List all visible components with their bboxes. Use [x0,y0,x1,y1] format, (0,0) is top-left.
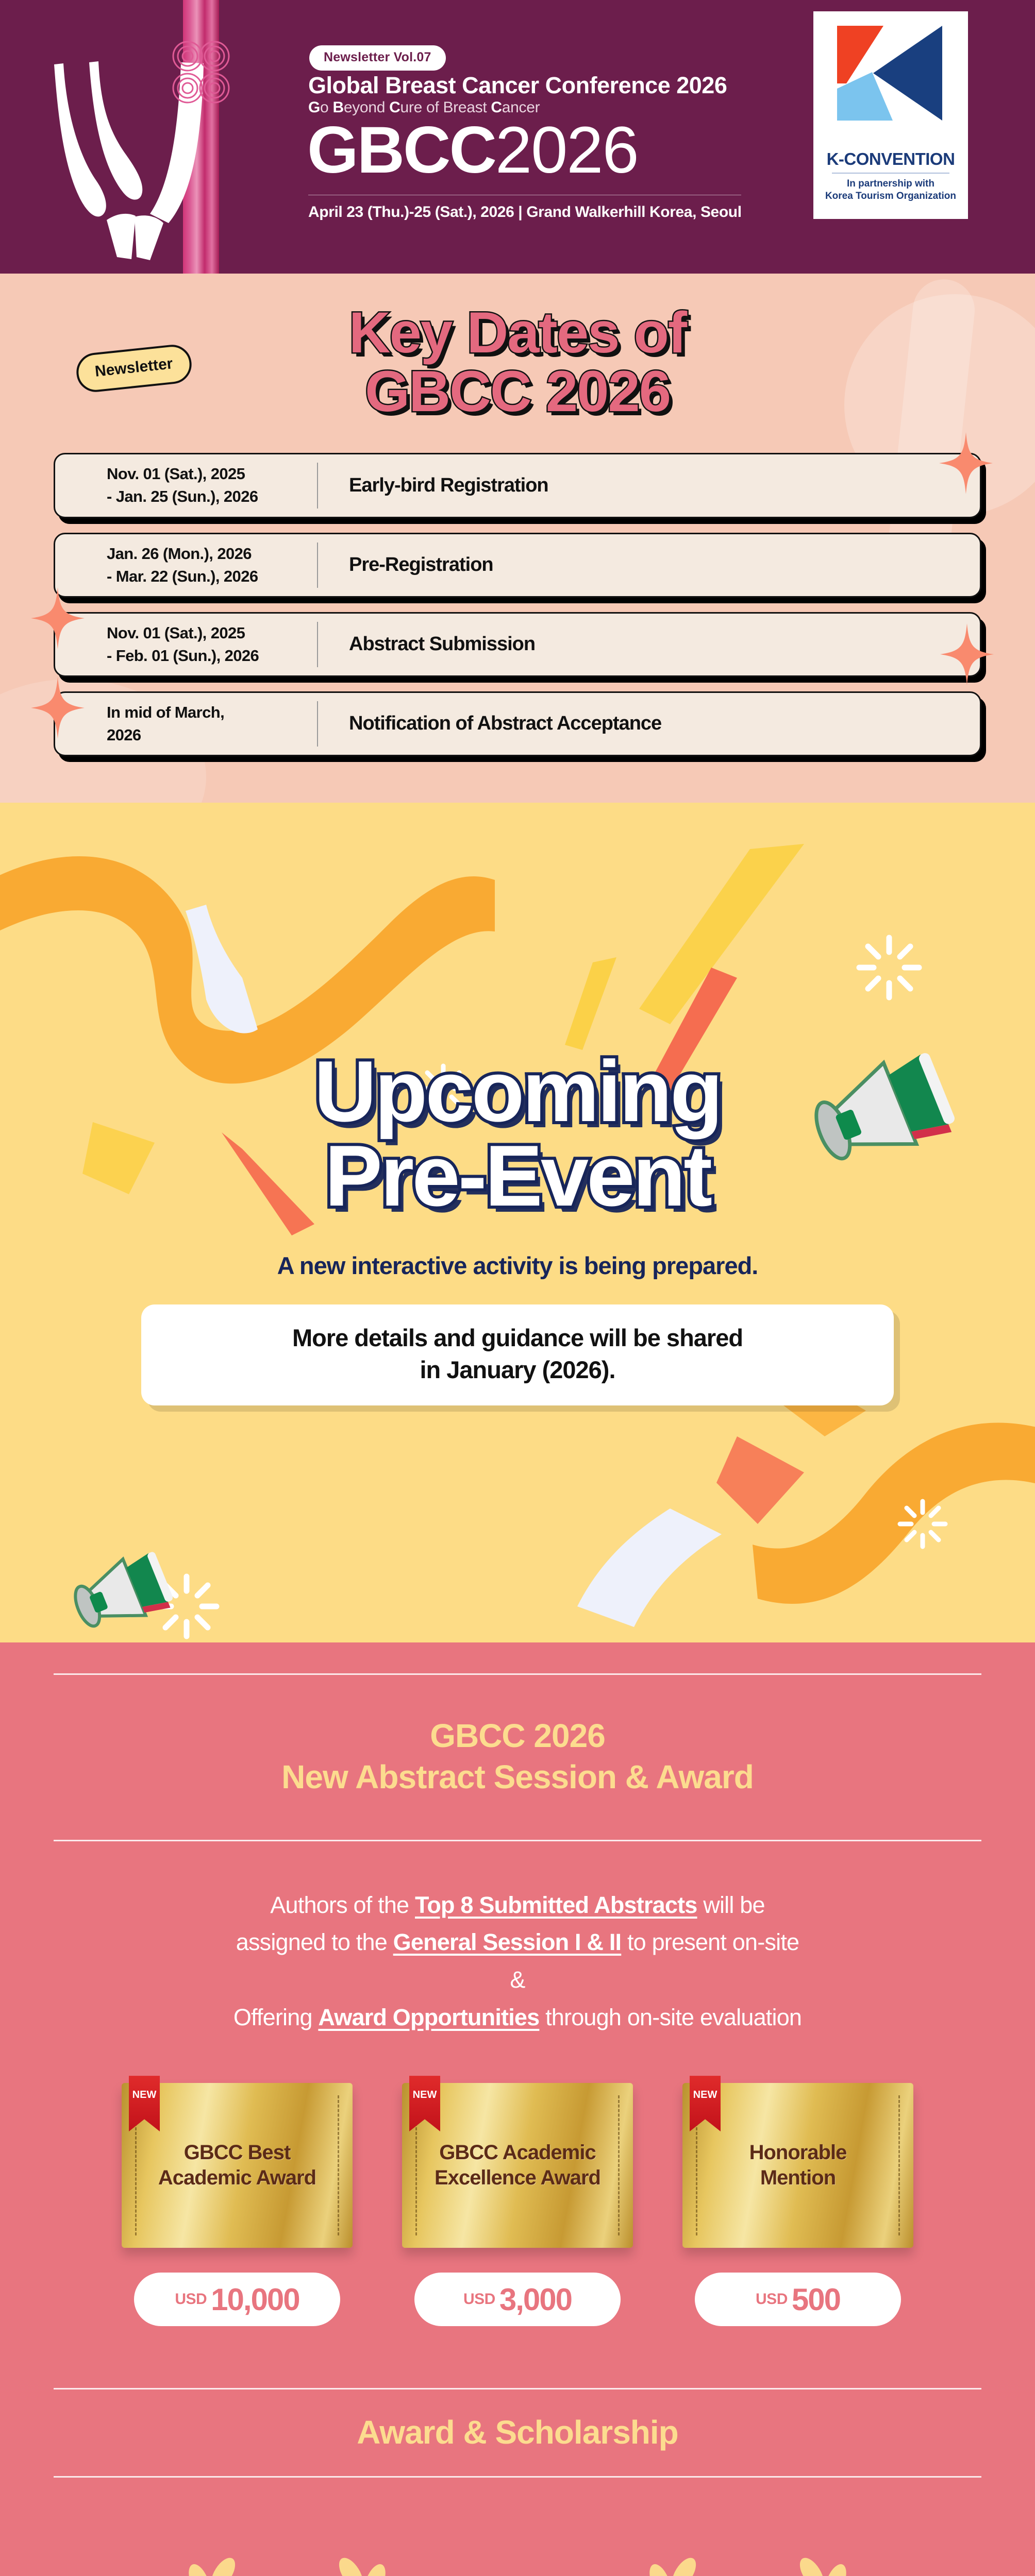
award-description-line4: Offering Award Opportunities through on-… [0,1999,1035,2037]
award-section-title: GBCC 2026 New Abstract Session & Award [0,1675,1035,1840]
laurel-award-cell[interactable]: Best/Good Poster Presentation Award USD … [517,2516,978,2576]
gbcc-wordmark: GBCC2026 [307,117,638,183]
desc-highlight: General Session I & II [393,1929,622,1955]
k-convention-name: K-CONVENTION [827,149,955,169]
currency-label: USD [175,2291,207,2308]
key-date-line-2: 2026 [107,724,317,747]
upcoming-pre-event-section: Upcoming Pre-Event A new interactive act… [0,803,1035,1642]
amount-value: 3,000 [499,2282,572,2317]
key-dates-section: Key Dates of GBCC 2026 Newsletter Nov. 0… [0,274,1035,803]
key-date-range: Nov. 01 (Sat.), 2025 - Feb. 01 (Sun.), 2… [55,622,318,667]
award-ticket[interactable]: NEW GBCC Academic Excellence Award [402,2083,633,2248]
amount-value: 10,000 [211,2282,299,2317]
desc-highlight: Award Opportunities [318,2004,539,2030]
laurel-wreath-icon [583,2516,913,2576]
key-date-line-1: In mid of March, [107,701,317,724]
desc-text: through on-site evaluation [539,2004,802,2030]
award-ticket[interactable]: NEW GBCC Best Academic Award [122,2083,353,2248]
header-divider [308,195,741,195]
award-price-pill: USD 500 [695,2273,901,2326]
award-ticket-name: Honorable Mention [682,2140,913,2191]
new-badge-ribbon: NEW [409,2076,440,2131]
k-convention-logo: K-CONVENTION In partnership with Korea T… [813,11,968,219]
key-date-line-2: - Feb. 01 (Sun.), 2026 [107,645,317,667]
key-date-line-1: Nov. 01 (Sat.), 2025 [107,622,317,645]
laurel-award-cell[interactable]: Best Oral Presentation Award USD 500 [57,2516,517,2576]
key-date-row[interactable]: Nov. 01 (Sat.), 2025 - Feb. 01 (Sun.), 2… [54,612,981,677]
award-ticket-col-2: NEW Honorable Mention USD 500 [682,2083,913,2326]
upcoming-content: Upcoming Pre-Event A new interactive act… [0,803,1035,1405]
key-date-range: Nov. 01 (Sat.), 2025 - Jan. 25 (Sun.), 2… [55,463,318,508]
award-section-title-line2: New Abstract Session & Award [0,1756,1035,1798]
partnership-line-1: In partnership with [825,178,956,190]
laurel-awards-grid: Best Oral Presentation Award USD 500 [0,2478,1035,2576]
key-date-row[interactable]: Jan. 26 (Mon.), 2026 - Mar. 22 (Sun.), 2… [54,533,981,598]
conference-title: Global Breast Cancer Conference 2026 [308,72,727,99]
gbcc-acronym: GBCC [307,113,495,187]
award-price-pill: USD 10,000 [134,2273,340,2326]
desc-text: to present on-site [621,1929,799,1955]
date-venue-text: April 23 (Thu.)-25 (Sat.), 2026 | Grand … [308,204,742,221]
abstract-award-section: GBCC 2026 New Abstract Session & Award A… [0,1642,1035,2576]
new-badge-ribbon: NEW [129,2076,160,2131]
newsletter-page: Newsletter Vol.07 Global Breast Cancer C… [0,0,1035,2576]
desc-text: Offering [233,2004,319,2030]
korean-knot-decoration [160,28,242,118]
award-description: Authors of the Top 8 Submitted Abstracts… [0,1841,1035,2037]
gbcc-year: 2026 [495,113,638,187]
award-description-line3: & [0,1961,1035,1999]
currency-label: USD [463,2291,495,2308]
desc-text: assigned to the [236,1929,393,1955]
key-dates-row-wrap-2: Nov. 01 (Sat.), 2025 - Feb. 01 (Sun.), 2… [54,612,981,677]
key-dates-row-wrap-0: Nov. 01 (Sat.), 2025 - Jan. 25 (Sun.), 2… [54,453,981,518]
award-price-pill: USD 3,000 [414,2273,621,2326]
key-dates-heading-wrap: Key Dates of GBCC 2026 Newsletter [0,274,1035,421]
key-date-line-1: Nov. 01 (Sat.), 2025 [107,463,317,485]
key-date-range: Jan. 26 (Mon.), 2026 - Mar. 22 (Sun.), 2… [55,543,318,588]
upcoming-title-line2: Pre-Event [0,1133,1035,1218]
key-dates-row-wrap-3: In mid of March, 2026 Notification of Ab… [54,691,981,756]
key-date-label: Abstract Submission [318,633,535,655]
k-convention-subtitle: In partnership with Korea Tourism Organi… [825,178,956,202]
award-section-title-line1: GBCC 2026 [0,1715,1035,1756]
key-date-row[interactable]: Nov. 01 (Sat.), 2025 - Jan. 25 (Sun.), 2… [54,453,981,518]
partnership-line-2: Korea Tourism Organization [825,190,956,202]
key-dates-row-wrap-1: Jan. 26 (Mon.), 2026 - Mar. 22 (Sun.), 2… [54,533,981,598]
key-date-line-2: - Mar. 22 (Sun.), 2026 [107,565,317,588]
award-ticket[interactable]: NEW Honorable Mention [682,2083,913,2248]
award-ticket-name: GBCC Academic Excellence Award [402,2140,633,2191]
key-date-line-1: Jan. 26 (Mon.), 2026 [107,543,317,565]
award-ticket-col-0: NEW GBCC Best Academic Award USD 10,000 [122,2083,353,2326]
newsletter-volume-badge: Newsletter Vol.07 [309,45,446,71]
key-date-range: In mid of March, 2026 [55,701,318,747]
award-description-line1: Authors of the Top 8 Submitted Abstracts… [0,1887,1035,1924]
upcoming-notice-line1: More details and guidance will be shared [162,1322,873,1354]
currency-label: USD [756,2291,788,2308]
k-convention-divider [832,173,949,174]
new-badge-ribbon: NEW [690,2076,721,2131]
desc-text: will be [697,1892,765,1918]
award-ticket-row: NEW GBCC Best Academic Award USD 10,000 … [0,2083,1035,2326]
upcoming-subtitle: A new interactive activity is being prep… [0,1251,1035,1280]
scholarship-title: Award & Scholarship [0,2389,1035,2476]
key-date-label: Early-bird Registration [318,474,548,497]
award-description-line2: assigned to the General Session I & II t… [0,1924,1035,1961]
desc-text: Authors of the [270,1892,415,1918]
upcoming-title-line1: Upcoming [0,1049,1035,1134]
k-convention-mark-icon [832,23,949,146]
award-ticket-name: GBCC Best Academic Award [122,2140,353,2191]
page-header: Newsletter Vol.07 Global Breast Cancer C… [0,0,1035,274]
key-date-label: Pre-Registration [318,554,493,576]
laurel-wreath-icon [122,2516,452,2576]
key-dates-list: Nov. 01 (Sat.), 2025 - Jan. 25 (Sun.), 2… [0,453,1035,756]
upcoming-notice-card: More details and guidance will be shared… [141,1304,894,1405]
amount-value: 500 [792,2282,840,2317]
key-date-row[interactable]: In mid of March, 2026 Notification of Ab… [54,691,981,756]
key-date-line-2: - Jan. 25 (Sun.), 2026 [107,485,317,508]
key-date-label: Notification of Abstract Acceptance [318,713,661,735]
desc-highlight: Top 8 Submitted Abstracts [415,1892,697,1918]
scholarship-heading-block: Award & Scholarship [0,2326,1035,2478]
upcoming-notice-line2: in January (2026). [162,1354,873,1386]
award-ticket-col-1: NEW GBCC Academic Excellence Award USD 3… [402,2083,633,2326]
megaphone-icon-small [61,1549,179,1642]
